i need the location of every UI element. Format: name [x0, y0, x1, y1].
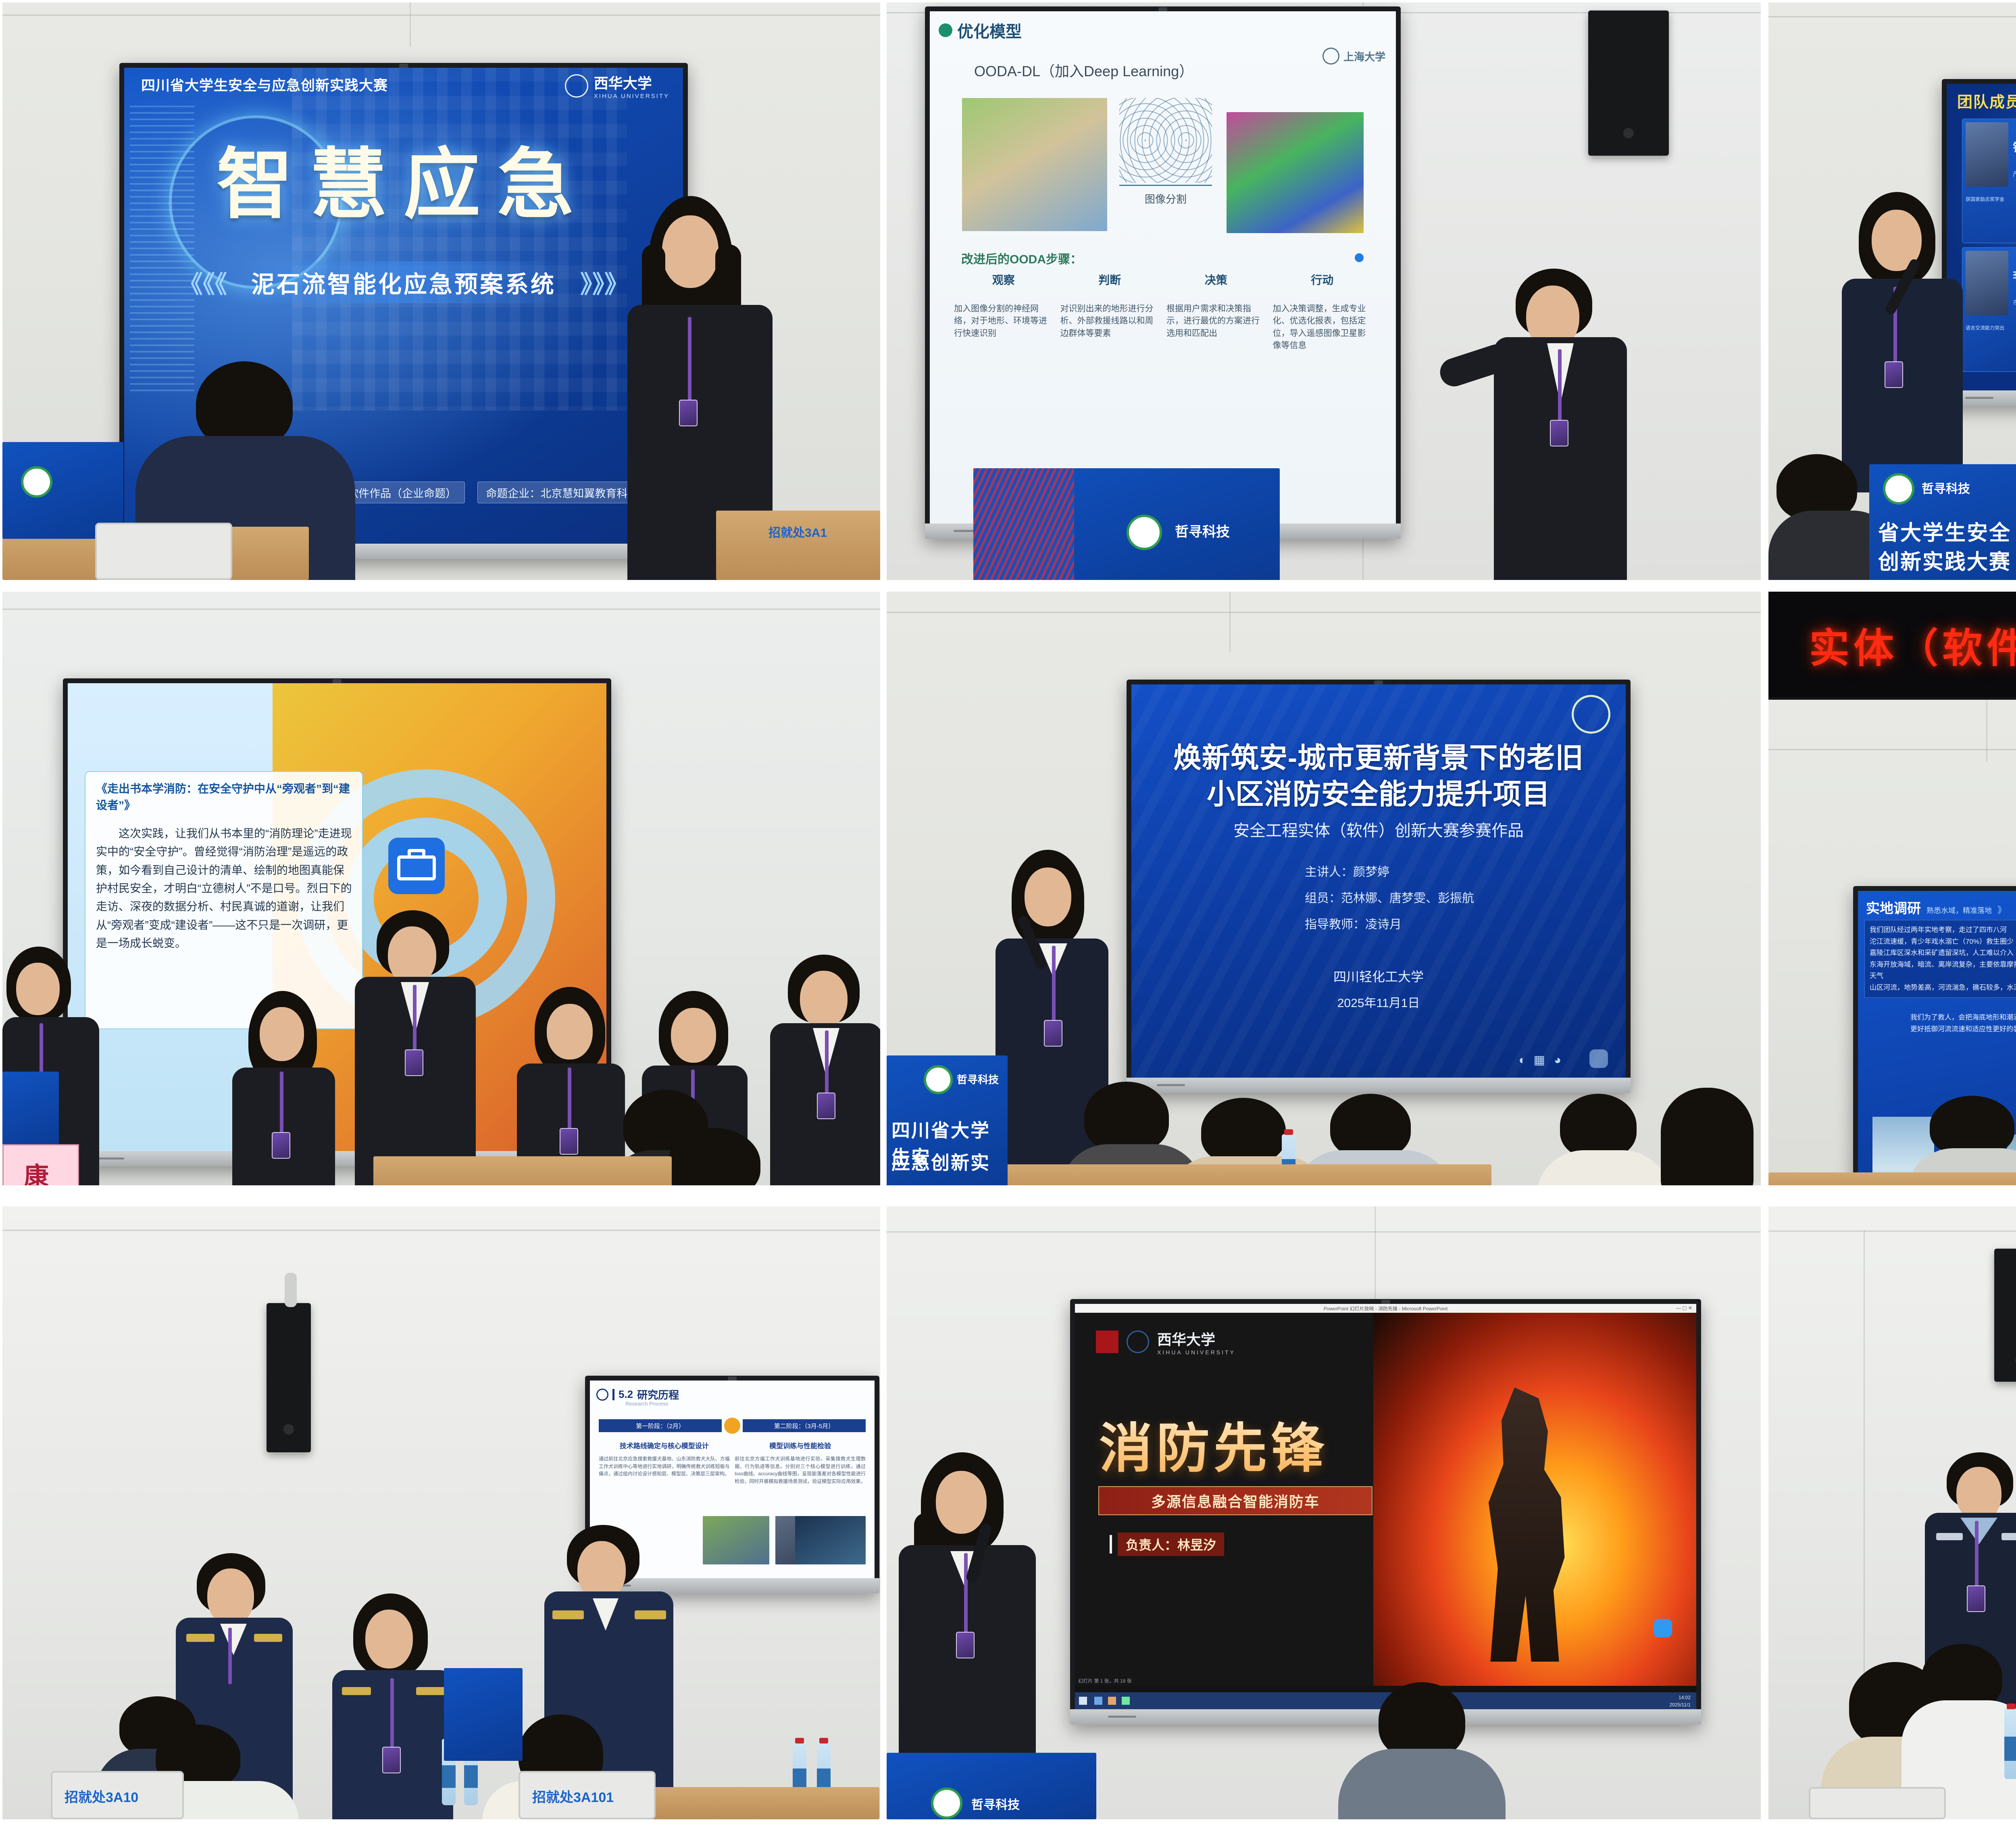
wifi-icon: ◕: [1554, 1053, 1561, 1067]
taskbar-app-3-icon[interactable]: [1122, 1697, 1130, 1705]
slide8-logo-text: 西华大学: [1157, 1328, 1235, 1349]
slide2-header: 优化模型: [957, 19, 1022, 42]
team-member-card-3[interactable]: 李睿齐 市场负责人 语言交流能力突出: [1962, 247, 2016, 372]
reflection-textbox: 《走出书本学消防：在安全守护中从“旁观者”到“建设者”》 这次实践，让我们从书本…: [85, 771, 363, 1029]
podium-line-0: 省大学生安全: [1878, 516, 2011, 546]
team-member-grid: 钟丽姿 产品总负责人 获国家励志奖学金 杨佳逸 技术负责人 获2024年四川省职…: [1962, 119, 2016, 372]
slide5-date: 2025年11月1日: [1131, 993, 1626, 1011]
collage-cell-5: 焕新筑安-城市更新背景下的老旧 小区消防安全能力提升项目 安全工程实体（软件）创…: [883, 581, 1765, 1197]
slide7-phase-0-text: 通过前往北京应急搜索救援犬基地、山东消防救犬大队、方福工作犬训练中心等地进行实地…: [599, 1455, 730, 1478]
podium-center: 哲寻科技: [973, 468, 1280, 580]
collage-cell-4: 《走出书本学消防：在安全守护中从“旁观者”到“建设者”》 这次实践，让我们从书本…: [0, 581, 883, 1197]
chair: [95, 523, 232, 580]
ooda-column-2: 决策 根据用户需求和决策指示，进行最优的方案进行选用和匹配出: [1166, 271, 1266, 352]
emblem-red-icon: [1096, 1331, 1118, 1353]
slide7-phase-0-heading: 技术路线确定与核心模型设计: [599, 1440, 730, 1450]
photo-collage-grid: 四川省大学生安全与应急创新实践大赛 西华大学 XIHUA UNIVERSITY …: [0, 0, 2016, 1829]
slide8-logo-sub: XIHUA UNIVERSITY: [1157, 1349, 1235, 1356]
slide6-header: 实地调研: [1866, 897, 1921, 917]
ooda-col3-text: 加入决策调整，生成专业化、优选化报表，包括定位，导入遥感图像卫星影像等信息: [1273, 303, 1372, 352]
collage-cell-6: 实体（软件）创新自选命题作品决赛答辩 实地调研 熟悉水域，精准落地 》 项目背: [1765, 581, 2016, 1197]
segmentation-map-tile: [1227, 112, 1364, 233]
slide6-header-sub: 熟悉水域，精准落地: [1926, 905, 1992, 916]
collage-cell-9: 四川省大学生安全与应急创新实践大赛 哲寻科技 四川省大学生安全与应急创新实践大赛…: [1765, 1197, 2016, 1829]
ceiling-speaker-9: [1994, 1249, 2016, 1382]
slide5-members: 组员：范林娜、唐梦雯、彭振航: [1305, 888, 1474, 906]
powerpoint-titlebar: PowerPoint 幻灯片放映 - 消防先锋 - Microsoft Powe…: [1075, 1304, 1696, 1313]
slide4-title: 《走出书本学消防：在安全守护中从“旁观者”到“建设者”》: [96, 781, 353, 813]
tm0-role: 产品总负责人: [2013, 169, 2016, 178]
chevron-left-icon: 《《《: [179, 265, 227, 300]
collage-cell-8: PowerPoint 幻灯片放映 - 消防先锋 - Microsoft Powe…: [883, 1197, 1765, 1829]
ceiling-speaker-7: [267, 1303, 311, 1452]
ooda-column-0: 观察 加入图像分割的神经网络，对于地形、环境等进行快速识别: [954, 271, 1053, 352]
screen-float-button-icon-8[interactable]: [1654, 1619, 1672, 1637]
slide8-logos: 西华大学 XIHUA UNIVERSITY: [1096, 1328, 1235, 1356]
chair-9a[interactable]: [1809, 1787, 1946, 1819]
judge-name-card-text: 康: [24, 1156, 49, 1185]
chair-7a[interactable]: 招就处3A10: [51, 1771, 184, 1819]
slide5-advisor: 指导教师：凌诗月: [1305, 914, 1402, 932]
slide7-photo-2: [795, 1516, 866, 1564]
slide2-middle-caption: 图像分割: [1119, 191, 1212, 206]
slide3-header: 团队成员: [1957, 90, 2016, 112]
slide6-bullet-4: 山区河流，地势差高，河流湍急，礁石较多，水深2-3m: [1870, 982, 2016, 994]
taskbar-app-2-icon[interactable]: [1108, 1697, 1116, 1705]
collage-cell-2: 优化模型 上海大学 OODA-DL（加入Deep Learning） 图像分割 …: [883, 0, 1765, 581]
grid-icon: ▦: [1534, 1053, 1545, 1067]
ceiling-speaker: [1588, 10, 1669, 156]
fire-cadet-center: [329, 1593, 458, 1819]
powerpoint-window-title: PowerPoint 幻灯片放映 - 消防先锋 - Microsoft Powe…: [1324, 1305, 1447, 1312]
slide6-bullet-3: 东海开放海域，暗流、离岸流复杂，主要依靠摩托艇救援，但得依赖天气: [1870, 959, 2016, 982]
slide8-status-left: 幻灯片 第 1 张，共 18 张: [1078, 1677, 1132, 1684]
slide1-subtitle: 泥石流智能化应急预案系统: [237, 261, 571, 303]
slide8-owner-label: 负责人：林昱汐: [1118, 1533, 1224, 1556]
slide7-photo-0: [703, 1516, 769, 1564]
photo-urban-renewal-title: 焕新筑安-城市更新背景下的老旧 小区消防安全能力提升项目 安全工程实体（软件）创…: [887, 592, 1761, 1185]
podium-5-line-1: 应急创新实: [891, 1148, 990, 1175]
ooda-col0-label: 观察: [954, 271, 1053, 288]
ooda-column-3: 行动 加入决策调整，生成专业化、优选化报表，包括定位，导入遥感图像卫星影像等信息: [1273, 271, 1372, 352]
audience-6-a: [1906, 1096, 2016, 1185]
interactive-display-8[interactable]: PowerPoint 幻灯片放映 - 消防先锋 - Microsoft Powe…: [1070, 1299, 1701, 1725]
slide8-banner-text: 多源信息融合智能消防车: [1151, 1490, 1320, 1511]
taskbar-clock-time: 14:02: [1670, 1694, 1691, 1701]
slide7-section-title-en: Research Process: [625, 1401, 668, 1407]
right-desk: [716, 511, 880, 580]
slide5-title-line1: 焕新筑安-城市更新背景下的老旧: [1143, 741, 1614, 775]
slide7-section-title: 研究历程: [637, 1387, 679, 1402]
photo-ooda-dl-model: 优化模型 上海大学 OODA-DL（加入Deep Learning） 图像分割 …: [887, 2, 1761, 580]
slide1-main-title: 智慧应急: [124, 138, 683, 232]
speaker-bracket: [285, 1273, 297, 1307]
slide5-title-line2: 小区消防安全能力提升项目: [1143, 777, 1614, 811]
led-banner-text: 实体（软件）创新自选命题作品决赛答辩: [1809, 615, 2016, 674]
judge-name-card: 康: [2, 1144, 79, 1185]
taskbar-clock-date: 2025/11/1: [1670, 1701, 1691, 1708]
chair-sign-7b: 招就处3A101: [532, 1786, 614, 1806]
photo-team-members: 团队成员 /// 跨校多学科交叉融合，团队各展所长 钟丽姿 产品总负责人 获国家…: [1768, 2, 2016, 580]
student-1: [228, 991, 337, 1185]
slide8-main-title: 消防先锋: [1099, 1406, 1328, 1483]
chair-sign-7a: 招就处3A10: [65, 1786, 138, 1806]
podium-brand-label-5: 哲寻科技: [957, 1072, 999, 1087]
audience-desk-6: [1768, 1172, 2016, 1185]
epaulette-right: [254, 1634, 282, 1642]
logo-name-en: XIHUA UNIVERSITY: [594, 93, 669, 100]
ooda-column-1: 判断 对识别出来的地形进行分析、外部救援线路以和周边群体等要素: [1060, 271, 1160, 352]
podium-line-1: 创新实践大赛: [1878, 545, 2011, 575]
podium-7: [444, 1668, 523, 1761]
leaf-icon: [939, 23, 952, 37]
audience-5-e: [1649, 1088, 1761, 1185]
collage-cell-7: 5.2 研究历程 Research Process 第一阶段：（2月） 第二阶段…: [0, 1197, 883, 1829]
epaulette-left-p: [552, 1610, 584, 1619]
volume-icon: ◖: [1517, 1053, 1524, 1067]
team-member-card-0[interactable]: 钟丽姿 产品总负责人 获国家励志奖学金: [1962, 119, 2016, 243]
photo-research-process: 5.2 研究历程 Research Process 第一阶段：（2月） 第二阶段…: [2, 1206, 880, 1819]
tm3-name: 李睿齐: [2013, 267, 2016, 284]
epaulette-right-c: [416, 1687, 445, 1695]
water-bottle-9a: [2004, 1708, 2016, 1779]
slide7-phase-0-label: 第一阶段：（2月）: [599, 1419, 722, 1432]
epaulette-right-p: [635, 1610, 666, 1619]
slide6-bullet-0: 我们团队经过两年实地考察，走过了四市八河: [1870, 924, 2016, 936]
podium-brand-label-3: 哲寻科技: [1922, 479, 1970, 496]
slide7-phase-1-label: 第二阶段：（3月-5月）: [743, 1419, 866, 1432]
photo-field-research: 实体（软件）创新自选命题作品决赛答辩 实地调研 熟悉水域，精准落地 》 项目背: [1768, 592, 2016, 1185]
photo-fire-safety-reflection: 《走出书本学消防：在安全守护中从“旁观者”到“建设者”》 这次实践，让我们从书本…: [2, 592, 880, 1185]
xihua-university-logo: 西华大学 XIHUA UNIVERSITY: [565, 72, 669, 100]
ooda-col3-label: 行动: [1273, 271, 1372, 288]
police-epaulette-0r: [2001, 1533, 2016, 1540]
podium-8: 哲寻科技: [887, 1753, 1096, 1819]
student-2: [353, 910, 478, 1185]
interactive-display-5[interactable]: 焕新筑安-城市更新背景下的老旧 小区消防安全能力提升项目 安全工程实体（软件）创…: [1127, 680, 1631, 1093]
photo-police-team: 四川省大学生安全与应急创新实践大赛 哲寻科技 四川省大学生安全与应急创新实践大赛…: [1768, 1206, 2016, 1819]
tm3-role: 市场负责人: [2013, 297, 2016, 307]
ooda-col2-text: 根据用户需求和决策指示，进行最优的方案进行选用和匹配出: [1166, 303, 1266, 340]
slide7-section-number: 5.2: [619, 1388, 633, 1401]
slide5-subtitle: 安全工程实体（软件）创新大赛参赛作品: [1143, 818, 1614, 841]
slide4-body: 这次实践，让我们从书本里的“消防理论”走进现实中的“安全守护”。曾经觉得“消防治…: [96, 824, 353, 953]
windows-start-icon[interactable]: [1079, 1697, 1087, 1705]
photo-fire-pioneer: PowerPoint 幻灯片放映 - 消防先锋 - Microsoft Powe…: [887, 1206, 1761, 1819]
audience-8: [1338, 1682, 1508, 1819]
led-banner: 实体（软件）创新自选命题作品决赛答辩: [1768, 592, 2016, 700]
epaulette-left-c: [342, 1687, 371, 1695]
ooda-col0-text: 加入图像分割的神经网络，对于地形、环境等进行快速识别: [954, 303, 1053, 340]
slide6-bullet-1: 沱江流速缓，青少年戏水溺亡（70%）救生圈少: [1870, 936, 2016, 948]
podium-brand-label: 哲寻科技: [1175, 521, 1230, 540]
taskbar-app-1-icon[interactable]: [1094, 1697, 1102, 1705]
tm0-bullet: 获国家励志奖学金: [1966, 196, 2016, 203]
ooda-col1-label: 判断: [1060, 271, 1160, 288]
collage-cell-3: 团队成员 /// 跨校多学科交叉融合，团队各展所长 钟丽姿 产品总负责人 获国家…: [1765, 0, 2016, 581]
podium-right: 哲寻科技 省大学生安全 创新实践大赛: [1869, 464, 2016, 580]
cursor-dot-icon: [1355, 253, 1364, 262]
slide7-phase-1-heading: 模型训练与性能检验: [735, 1440, 866, 1450]
ooda-col2-label: 决策: [1166, 271, 1266, 288]
window-controls-icon[interactable]: — ▢ ✕: [1676, 1305, 1692, 1311]
interactive-display-2[interactable]: 优化模型 上海大学 OODA-DL（加入Deep Learning） 图像分割 …: [925, 6, 1401, 539]
police-epaulette-0l: [1936, 1533, 1963, 1540]
slide7-phase-1-text: 前往北京方福工作犬训练基地进行实验，采集搜救犬生理数据、行为轨迹等信息。分别对三…: [735, 1455, 866, 1485]
tm3-bullet: 语言交流能力突出: [1966, 324, 2016, 332]
neural-network-diagram: [1119, 98, 1212, 183]
podium-5: 哲寻科技 四川省大学生安 应急创新实: [887, 1055, 1008, 1185]
slide1-header: 四川省大学生安全与应急创新实践大赛: [141, 74, 388, 95]
ooda-col1-text: 对识别出来的地形进行分析、外部救援线路以和周边群体等要素: [1060, 303, 1160, 340]
slide6-bullet-2: 嘉陵江库区深水和采矿遗留深坑，人工难以介入: [1870, 947, 2016, 959]
slide5-presenter: 主讲人：颜梦婷: [1305, 862, 1389, 880]
collage-cell-1: 四川省大学生安全与应急创新实践大赛 西华大学 XIHUA UNIVERSITY …: [0, 0, 883, 581]
photo-smart-emergency-presentation: 四川省大学生安全与应急创新实践大赛 西华大学 XIHUA UNIVERSITY …: [2, 2, 880, 580]
presenter-female-uniform: [1837, 192, 1970, 490]
slide2-bullets-header: 改进后的OODA步骤：: [961, 249, 1082, 267]
podium-4: [2, 1072, 59, 1152]
aerial-photo-tile: [962, 98, 1107, 231]
right-desk-7: [648, 1787, 879, 1819]
presenter-male: [1475, 269, 1665, 580]
sichuan-university-logo-icon: [1572, 695, 1610, 734]
epaulette-left: [186, 1634, 215, 1642]
logo-name-cn: 西华大学: [594, 72, 669, 93]
chair-7b[interactable]: 招就处3A101: [519, 1771, 656, 1819]
tm0-name: 钟丽姿: [2013, 139, 2016, 155]
school-crest-icon: [596, 1389, 608, 1401]
slide6-quote: 我们为了救人，会把海底地形和潮涌变化摸得一清二楚，真的很需要一款更智能、能更好抵…: [1910, 1012, 2016, 1035]
school-seal-icon: [1127, 1331, 1149, 1353]
podium-brand-label-8: 哲寻科技: [971, 1795, 1020, 1812]
slide5-institution: 四川轻化工大学: [1131, 967, 1626, 985]
briefcase-icon: [388, 838, 445, 894]
chevron-right-small-icon: 》: [1997, 903, 2006, 916]
screen-float-button-icon-5[interactable]: [1589, 1049, 1608, 1068]
desk-sign-1: 招就处3A1: [768, 523, 827, 540]
judge-desk-4: [373, 1156, 672, 1185]
front-judge-b: [656, 1128, 789, 1185]
phase-arrow-icon: [724, 1418, 740, 1434]
chevron-right-icon: 》》》: [580, 265, 629, 300]
slide2-section-label: OODA-DL（加入Deep Learning）: [974, 60, 1193, 81]
